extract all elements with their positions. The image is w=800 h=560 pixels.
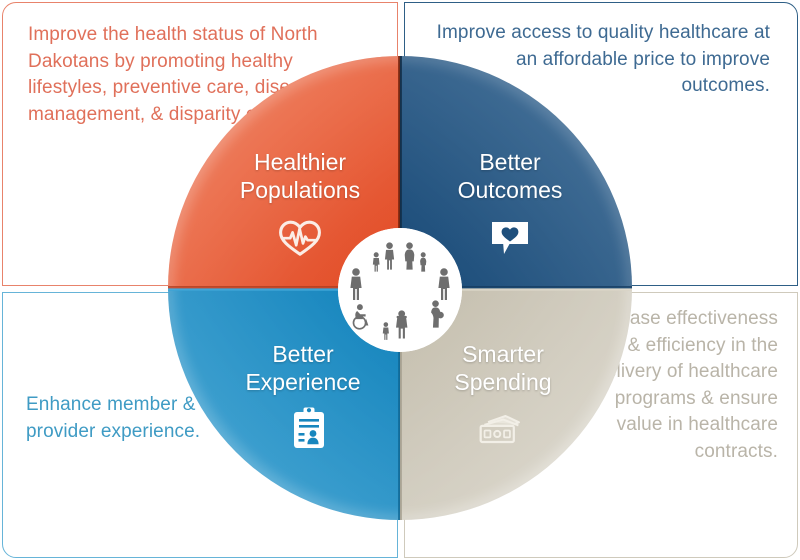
wedge-label-healthier-populations: Healthier Populations	[200, 148, 400, 204]
clipboard-person-icon	[286, 408, 332, 448]
people-circle-icon	[338, 228, 462, 352]
quadruple-aim-diagram: Improve the health status of North Dakot…	[0, 0, 800, 560]
speech-bubble-heart-icon	[487, 218, 533, 258]
heart-pulse-icon	[277, 218, 323, 258]
wedge-label-better-outcomes: Better Outcomes	[420, 148, 600, 204]
cash-money-icon	[477, 410, 523, 450]
